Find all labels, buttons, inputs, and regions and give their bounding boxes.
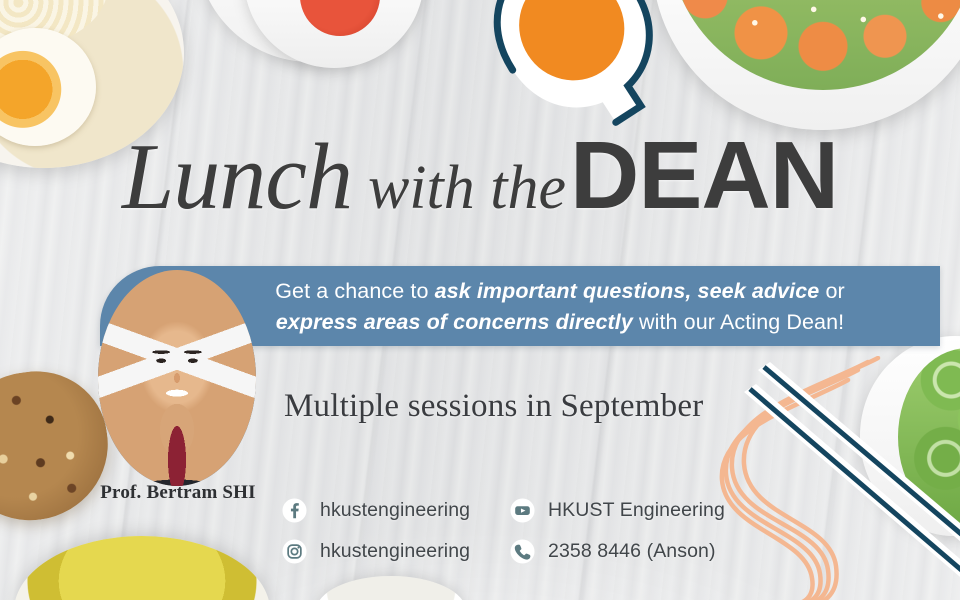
contact-facebook-label: hkustengineering xyxy=(320,499,470,522)
banner-line2-tail: with our Acting Dean! xyxy=(633,310,844,334)
facebook-icon xyxy=(282,498,307,523)
contact-list: hkustengineering HKUST Engineering hkust… xyxy=(282,498,725,564)
contact-phone[interactable]: 2358 8446 (Anson) xyxy=(510,539,725,564)
speaker-portrait-features xyxy=(98,270,256,486)
chopsticks-icon xyxy=(730,352,960,600)
contact-youtube[interactable]: HKUST Engineering xyxy=(510,498,725,523)
spoon-icon xyxy=(462,0,688,130)
contact-facebook[interactable]: hkustengineering xyxy=(282,498,510,523)
banner-line1-lead: Get a chance to xyxy=(275,279,434,303)
instagram-icon xyxy=(282,539,307,564)
banner-line1-bold: ask important questions, seek advice xyxy=(435,279,820,303)
banner-line1-tail: or xyxy=(819,279,844,303)
sessions-text: Multiple sessions in September xyxy=(284,388,703,425)
contact-instagram[interactable]: hkustengineering xyxy=(282,539,510,564)
headline-dean: DEAN xyxy=(570,128,838,224)
contact-instagram-label: hkustengineering xyxy=(320,540,470,563)
banner-line2-bold: express areas of concerns directly xyxy=(276,310,633,334)
lunch-with-the-dean-poster: Lunch with the DEAN Get a chance to ask … xyxy=(0,0,960,600)
banner-message: Get a chance to ask important questions,… xyxy=(180,272,940,342)
headline-with-the: with the xyxy=(368,157,566,219)
phone-icon xyxy=(510,539,535,564)
contact-youtube-label: HKUST Engineering xyxy=(548,499,725,522)
poster-headline: Lunch with the DEAN xyxy=(0,128,960,238)
banner-message-line-1: Get a chance to ask important questions,… xyxy=(180,276,940,307)
speaker-name: Prof. Bertram SHI xyxy=(60,482,296,504)
speaker-portrait xyxy=(98,270,256,486)
headline-lunch: Lunch xyxy=(122,130,352,224)
contact-phone-label: 2358 8446 (Anson) xyxy=(548,540,716,563)
youtube-icon xyxy=(510,498,535,523)
banner-message-line-2: express areas of concerns directly with … xyxy=(180,307,940,338)
